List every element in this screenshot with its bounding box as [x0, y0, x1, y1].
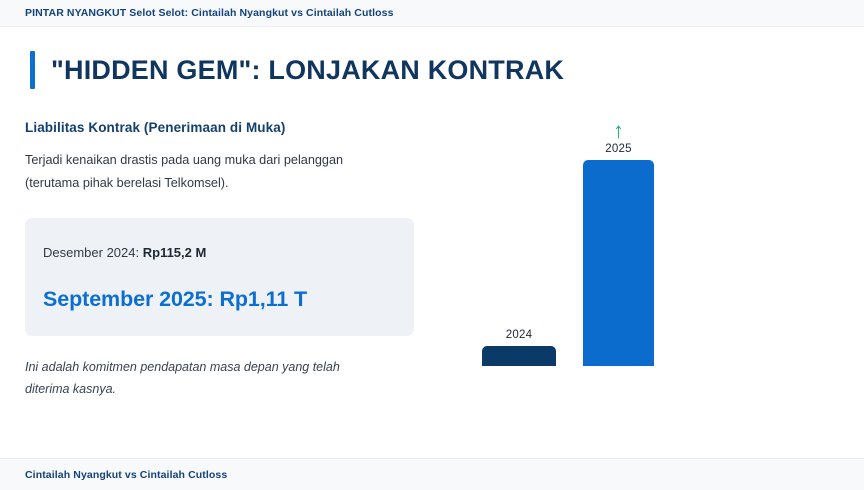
note-line-2: diterima kasnya. [25, 382, 116, 396]
card-current-value: September 2025: Rp1,11 T [43, 287, 414, 312]
slide-title-row: "HIDDEN GEM": LONJAKAN KONTRAK [30, 51, 564, 89]
slide-title: "HIDDEN GEM": LONJAKAN KONTRAK [51, 51, 564, 89]
left-content-column: Liabilitas Kontrak (Penerimaan di Muka) … [25, 120, 425, 413]
card-previous-label: Desember 2024: [43, 245, 143, 260]
arrow-up-icon: ↑ [613, 122, 624, 140]
footer-bar: Cintailah Nyangkut vs Cintailah Cutloss [0, 458, 864, 490]
slide-canvas: "HIDDEN GEM": LONJAKAN KONTRAK Liabilita… [0, 27, 864, 458]
bar-label-2025: 2025 [605, 143, 631, 155]
section-heading: Liabilitas Kontrak (Penerimaan di Muka) [25, 120, 425, 135]
title-accent-bar [30, 51, 35, 89]
bar-group-2024: 2024 [482, 329, 556, 366]
note-paragraph: Ini adalah komitmen pendapatan masa depa… [25, 356, 375, 400]
body-line-2: (terutama pihak berelasi Telkomsel). [25, 176, 229, 190]
presentation-title: PINTAR NYANGKUT Selot Selot: Cintailah N… [25, 7, 394, 19]
highlight-card: Desember 2024: Rp115,2 M September 2025:… [25, 218, 414, 336]
card-previous-value: Rp115,2 M [143, 245, 207, 260]
top-bar: PINTAR NYANGKUT Selot Selot: Cintailah N… [0, 0, 864, 27]
bar-2025 [583, 160, 654, 366]
note-line-1: Ini adalah komitmen pendapatan masa depa… [25, 360, 340, 374]
bar-group-2025: ↑ 2025 [583, 122, 654, 366]
body-line-1: Terjadi kenaikan drastis pada uang muka … [25, 153, 343, 167]
card-previous-row: Desember 2024: Rp115,2 M [43, 245, 414, 260]
bar-chart: 2024 ↑ 2025 [460, 120, 800, 420]
footer-title: Cintailah Nyangkut vs Cintailah Cutloss [25, 469, 227, 481]
body-paragraph: Terjadi kenaikan drastis pada uang muka … [25, 149, 385, 195]
bar-2024 [482, 346, 556, 366]
bar-label-2024: 2024 [506, 329, 532, 341]
